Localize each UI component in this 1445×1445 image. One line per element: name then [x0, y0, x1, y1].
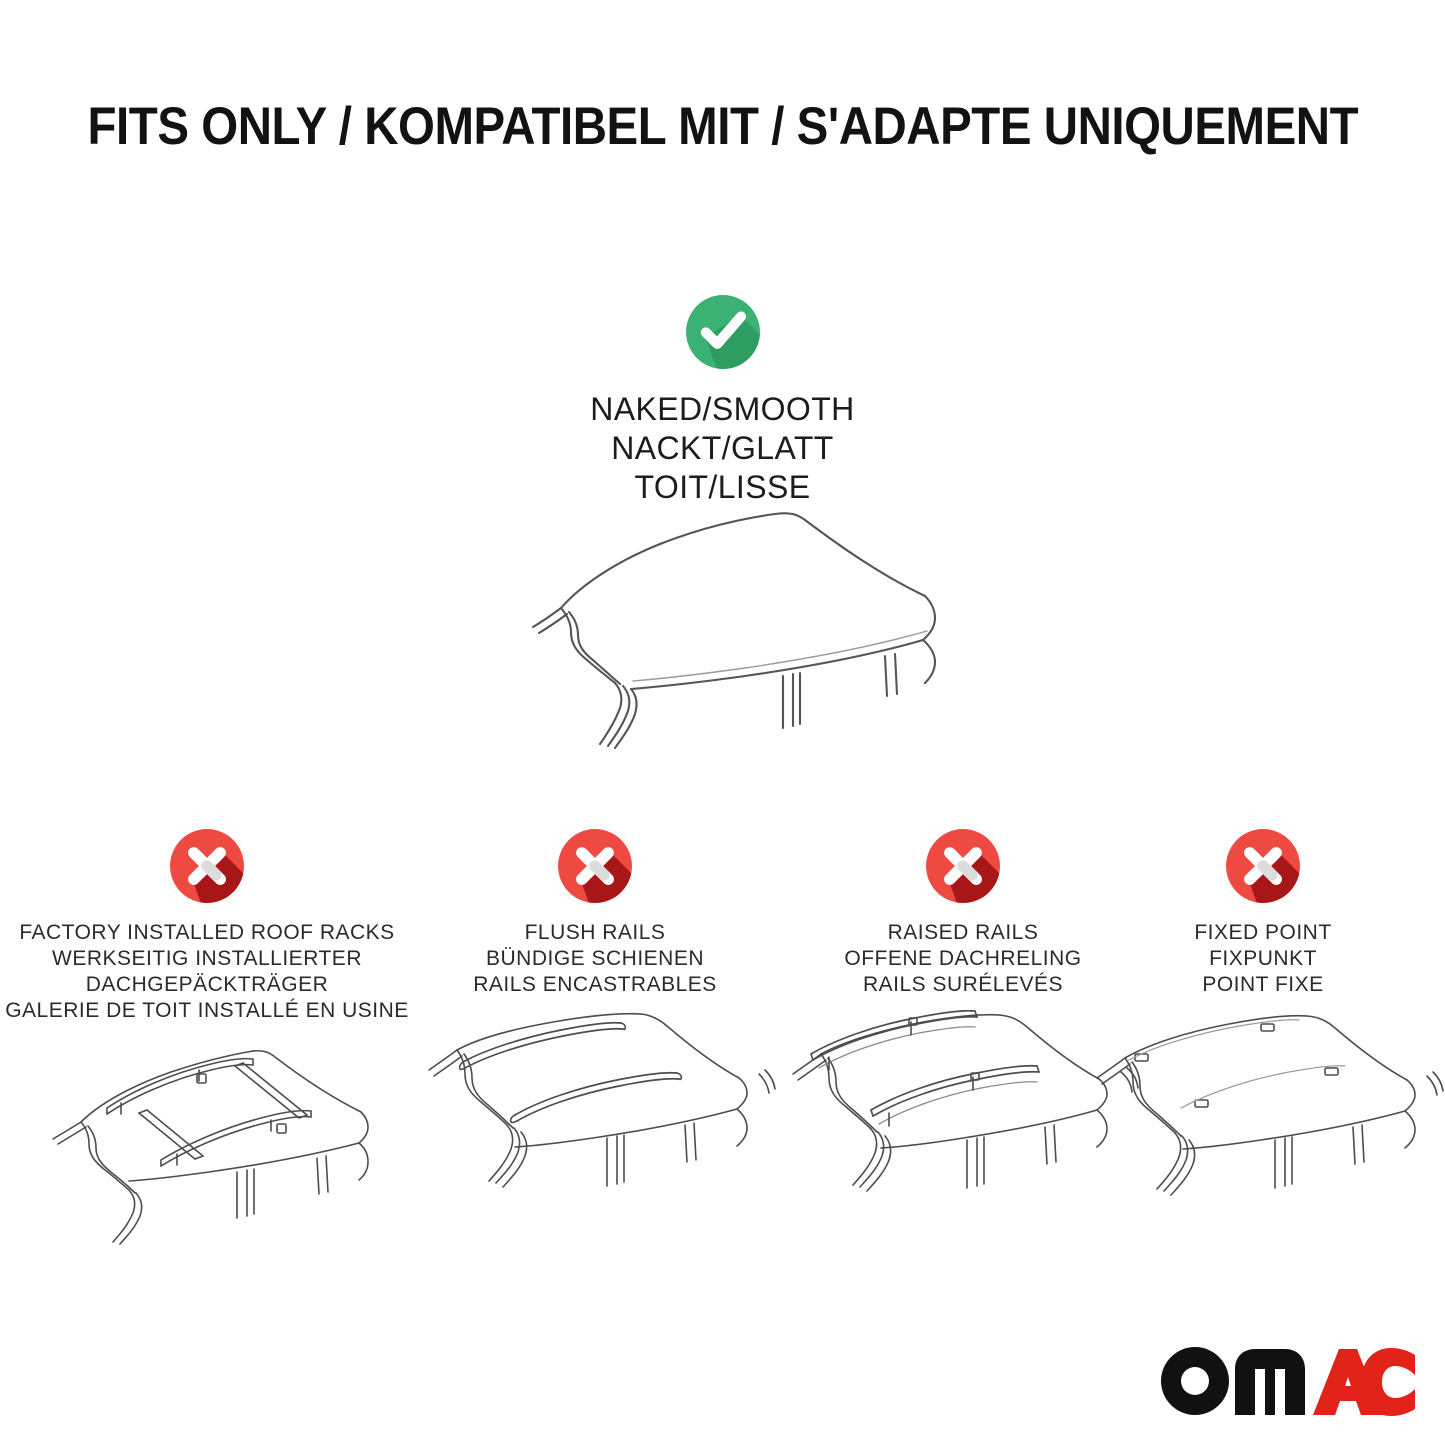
incompatible-item-flush-rails: FLUSH RAILS BÜNDIGE SCHIENEN RAILS ENCAS…: [409, 822, 781, 1220]
page-title-text: FITS ONLY / KOMPATIBEL MIT / S'ADAPTE UN…: [87, 100, 1358, 153]
car-roof-factory-rack-illustration: [21, 1036, 393, 1246]
caption-line-4: GALERIE DE TOIT INSTALLÉ EN USINE: [5, 998, 409, 1024]
omac-logo: OMAC: [1157, 1343, 1417, 1421]
incompatible-item-fixed-point: FIXED POINT FIXPUNKT POINT FIXE: [1077, 822, 1445, 1220]
cross-circle-icon: [163, 822, 251, 910]
omac-logo-icon: [1157, 1343, 1417, 1421]
cross-circle-icon: [1219, 822, 1307, 910]
car-roof-smooth-illustration: [445, 490, 1005, 750]
incompatible-caption: RAISED RAILS OFFENE DACHRELING RAILS SUR…: [844, 920, 1081, 998]
page-title: FITS ONLY / KOMPATIBEL MIT / S'ADAPTE UN…: [0, 100, 1445, 153]
incompatible-caption: FACTORY INSTALLED ROOF RACKS WERKSEITIG …: [5, 920, 409, 1024]
caption-line-3: POINT FIXE: [1194, 972, 1331, 998]
incompatible-caption: FIXED POINT FIXPUNKT POINT FIXE: [1194, 920, 1331, 998]
compatible-line-en: NAKED/SMOOTH: [590, 390, 854, 429]
compatible-section: NAKED/SMOOTH NACKT/GLATT TOIT/LISSE: [0, 288, 1445, 507]
caption-line-3: DACHGEPÄCKTRÄGER: [5, 972, 409, 998]
incompatible-section: FACTORY INSTALLED ROOF RACKS WERKSEITIG …: [0, 822, 1445, 1242]
cross-circle-icon: [551, 822, 639, 910]
caption-line-1: FIXED POINT: [1194, 920, 1331, 946]
caption-line-2: WERKSEITIG INSTALLIERTER: [5, 946, 409, 972]
caption-line-2: OFFENE DACHRELING: [844, 946, 1081, 972]
caption-line-1: FLUSH RAILS: [473, 920, 717, 946]
compatible-line-de: NACKT/GLATT: [590, 429, 854, 468]
incompatible-item-factory-installed-roof-racks: FACTORY INSTALLED ROOF RACKS WERKSEITIG …: [21, 822, 393, 1246]
car-roof-flush-rails-illustration: [409, 1010, 781, 1220]
caption-line-3: RAILS SURÉLEVÉS: [844, 972, 1081, 998]
caption-line-1: FACTORY INSTALLED ROOF RACKS: [5, 920, 409, 946]
incompatible-caption: FLUSH RAILS BÜNDIGE SCHIENEN RAILS ENCAS…: [473, 920, 717, 998]
caption-line-2: FIXPUNKT: [1194, 946, 1331, 972]
caption-line-1: RAISED RAILS: [844, 920, 1081, 946]
check-circle-icon: [679, 288, 767, 376]
caption-line-2: BÜNDIGE SCHIENEN: [473, 946, 717, 972]
cross-circle-icon: [919, 822, 1007, 910]
car-roof-fixed-point-illustration: [1077, 1010, 1445, 1220]
caption-line-3: RAILS ENCASTRABLES: [473, 972, 717, 998]
